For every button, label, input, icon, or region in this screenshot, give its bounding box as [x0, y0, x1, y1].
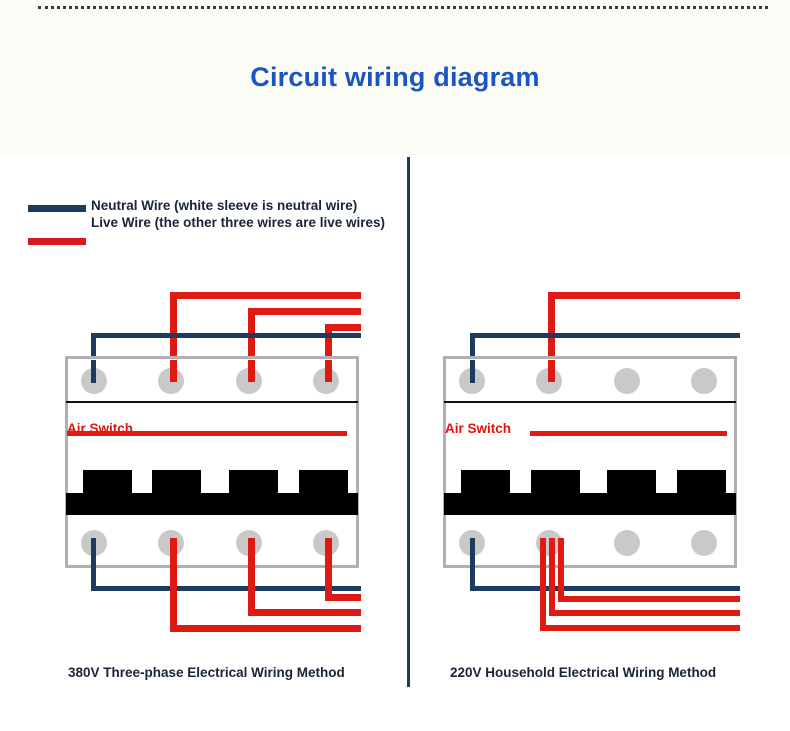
- toggle-block-4[interactable]: [677, 470, 726, 495]
- top-terminal-4[interactable]: [691, 368, 717, 394]
- bottom-neutral-drop: [470, 538, 475, 591]
- bottom-live-drop-a: [558, 538, 564, 600]
- toggle-block-2[interactable]: [152, 470, 201, 495]
- top-neutral-stub: [91, 360, 96, 383]
- air-switch-underline: [530, 431, 727, 436]
- bottom-neutral-rail: [470, 586, 740, 591]
- bottom-terminal-3[interactable]: [614, 530, 640, 556]
- diagram-three-phase: Air Switch 380V Three-phase Electrical W…: [0, 0, 395, 731]
- bottom-live-drop-3: [248, 538, 255, 615]
- top-live-stub-2: [548, 360, 555, 382]
- air-switch-label: Air Switch: [445, 421, 511, 436]
- top-live-stub-4: [325, 360, 332, 382]
- toggle-bar[interactable]: [66, 493, 358, 515]
- bottom-live-rail-4: [325, 594, 361, 601]
- breaker-upper-split-line: [66, 401, 358, 403]
- top-live-stub-3: [248, 360, 255, 382]
- top-live-rail-1: [170, 292, 361, 299]
- top-neutral-rail: [470, 333, 740, 338]
- toggle-block-4[interactable]: [299, 470, 348, 495]
- toggle-block-1[interactable]: [83, 470, 132, 495]
- top-live-rail-2: [248, 308, 361, 315]
- bottom-live-drop-4: [325, 538, 332, 600]
- bottom-live-rail-c: [540, 625, 740, 631]
- breaker-upper-split-line: [444, 401, 736, 403]
- top-neutral-stub: [470, 360, 475, 383]
- caption-three-phase: 380V Three-phase Electrical Wiring Metho…: [68, 665, 345, 680]
- bottom-terminal-4[interactable]: [691, 530, 717, 556]
- bottom-neutral-rail: [91, 586, 361, 591]
- top-live-stub-2: [170, 360, 177, 382]
- bottom-live-drop-c: [540, 538, 546, 630]
- diagram-household: Air Switch 220V Household Electrical Wir…: [395, 0, 790, 731]
- bottom-live-rail-b: [549, 610, 740, 616]
- bottom-live-rail-2: [170, 625, 361, 632]
- air-switch-underline: [67, 431, 347, 436]
- top-neutral-rail: [91, 333, 361, 338]
- toggle-block-2[interactable]: [531, 470, 580, 495]
- caption-household: 220V Household Electrical Wiring Method: [450, 665, 716, 680]
- bottom-live-drop-b: [549, 538, 555, 614]
- toggle-block-1[interactable]: [461, 470, 510, 495]
- toggle-bar[interactable]: [444, 493, 736, 515]
- top-terminal-3[interactable]: [614, 368, 640, 394]
- bottom-live-drop-2: [170, 538, 177, 631]
- bottom-live-rail-3: [248, 609, 361, 616]
- toggle-block-3[interactable]: [229, 470, 278, 495]
- toggle-block-3[interactable]: [607, 470, 656, 495]
- top-live-rail-1: [548, 292, 740, 299]
- bottom-neutral-drop: [91, 538, 96, 591]
- bottom-live-rail-a: [558, 596, 740, 602]
